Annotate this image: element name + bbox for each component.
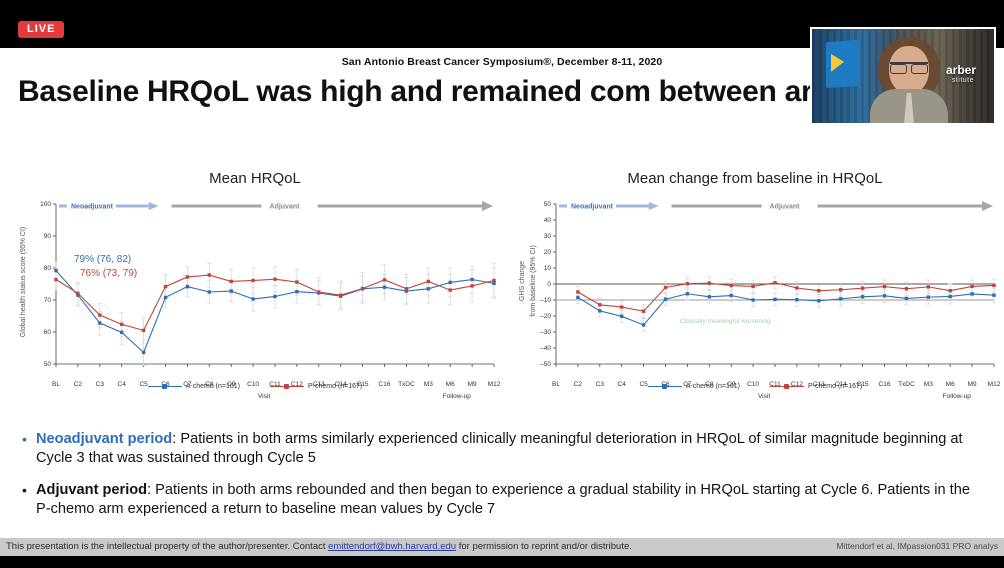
x-axis-label-followup: Follow-up [443, 393, 471, 400]
svg-text:100: 100 [40, 201, 51, 208]
x-axis-label-visit: Visit [758, 393, 770, 400]
footer-bar: This presentation is the intellectual pr… [0, 538, 1004, 568]
legend-left: A-chemo (n=161) P-chemo (n=167) [8, 382, 502, 391]
chart-title-right: Mean change from baseline in HRQoL [508, 170, 1002, 187]
bullet-adjuvant: Adjuvant period: Patients in both arms r… [20, 481, 986, 519]
legend-item-a-chemo-right: A-chemo (n=161) [648, 382, 740, 391]
footer-notice: This presentation is the intellectual pr… [6, 541, 632, 552]
footer-black-strip [0, 556, 1004, 568]
footer-inner: This presentation is the intellectual pr… [0, 538, 1004, 556]
bullet-lead-adjuvant: Adjuvant period [36, 482, 147, 498]
chart-mean-change-hrqol: Mean change from baseline in HRQoL GHS c… [508, 170, 1002, 470]
svg-text:Neoadjuvant: Neoadjuvant [71, 204, 114, 211]
svg-text:–50: –50 [540, 361, 551, 368]
legend-label-p-chemo: P-chemo (n=167) [308, 383, 362, 390]
presenter-avatar [870, 37, 948, 125]
legend-item-p-chemo: P-chemo (n=167) [270, 382, 362, 391]
x-axis-label-visit: Visit [258, 393, 270, 400]
x-axis-label-followup: Follow-up [943, 393, 971, 400]
footer-notice-before: This presentation is the intellectual pr… [6, 541, 328, 552]
video-backdrop-logo-text: arber [946, 63, 976, 77]
video-backdrop-logo-subtext: stitute [952, 77, 974, 84]
svg-text:40: 40 [544, 217, 552, 224]
live-badge: LIVE [18, 21, 64, 38]
svg-text:–40: –40 [540, 345, 551, 352]
footer-notice-after: for permission to reprint and/or distrib… [456, 541, 632, 552]
svg-text:70: 70 [44, 297, 52, 304]
plot-left: Global health status score (95% CI) 5060… [8, 196, 502, 376]
bullet-lead-neoadjuvant: Neoadjuvant period [36, 431, 172, 447]
legend-swatch-a-chemo-right [648, 382, 682, 391]
svg-text:80: 80 [44, 265, 52, 272]
chart-title-left: Mean HRQoL [8, 170, 502, 187]
legend-label-a-chemo: A-chemo (n=161) [186, 383, 240, 390]
presenter-video-thumbnail[interactable]: arber stitute [810, 27, 996, 125]
annotation-p-chemo-baseline: 76% (73, 79) [80, 268, 137, 279]
svg-text:50: 50 [44, 361, 52, 368]
svg-text:30: 30 [544, 233, 552, 240]
svg-text:–20: –20 [540, 313, 551, 320]
svg-text:Adjuvant: Adjuvant [770, 204, 801, 211]
plot-svg-right: –50–40–30–20–1001020304050NeoadjuvantAdj… [508, 196, 1002, 381]
bullet-body-neoadjuvant: : Patients in both arms similarly experi… [36, 431, 963, 466]
svg-text:Adjuvant: Adjuvant [270, 204, 301, 211]
page-title: Baseline HRQoL was high and remained com… [18, 74, 918, 109]
video-blue-sign [826, 40, 860, 88]
slide-root: LIVE ❮ ❯ San Antonio Breast Cancer Sympo… [0, 0, 1004, 568]
plot-svg-left: 5060708090100NeoadjuvantAdjuvant [8, 196, 502, 381]
chart-mean-hrqol: Mean HRQoL Global health status score (9… [8, 170, 502, 470]
annotation-a-chemo-baseline: 79% (76, 82) [74, 254, 131, 265]
glasses-icon [890, 62, 928, 70]
svg-text:90: 90 [44, 233, 52, 240]
svg-text:–30: –30 [540, 329, 551, 336]
legend-swatch-p-chemo [270, 382, 304, 391]
svg-text:–10: –10 [540, 297, 551, 304]
svg-text:50: 50 [544, 201, 552, 208]
plot-right: GHS changefrom baseline (95% CI) –50–40–… [508, 196, 1002, 376]
legend-label-p-chemo-right: P-chemo (n=167) [808, 383, 862, 390]
svg-text:10: 10 [544, 265, 552, 272]
legend-label-a-chemo-right: A-chemo (n=161) [686, 383, 740, 390]
legend-right: A-chemo (n=161) P-chemo (n=167) [508, 382, 1002, 391]
bullet-neoadjuvant: Neoadjuvant period: Patients in both arm… [20, 430, 986, 468]
svg-text:0: 0 [547, 281, 551, 288]
legend-item-p-chemo-right: P-chemo (n=167) [770, 382, 862, 391]
svg-text:Neoadjuvant: Neoadjuvant [571, 204, 614, 211]
legend-swatch-p-chemo-right [770, 382, 804, 391]
charts-container: Mean HRQoL Global health status score (9… [0, 170, 1004, 350]
legend-swatch-a-chemo [148, 382, 182, 391]
legend-item-a-chemo: A-chemo (n=161) [148, 382, 240, 391]
bullet-list: Neoadjuvant period: Patients in both arm… [20, 430, 986, 532]
bullet-body-adjuvant: : Patients in both arms rebounded and th… [36, 482, 970, 517]
footer-contact-link[interactable]: emittendorf@bwh.harvard.edu [328, 541, 456, 552]
svg-text:60: 60 [44, 329, 52, 336]
annotation-clinically-meaningful-worsening: Clinically meaningful worsening [680, 318, 771, 325]
footer-citation: Mittendorf et al, IMpassion031 PRO analy… [836, 541, 998, 551]
svg-text:20: 20 [544, 249, 552, 256]
